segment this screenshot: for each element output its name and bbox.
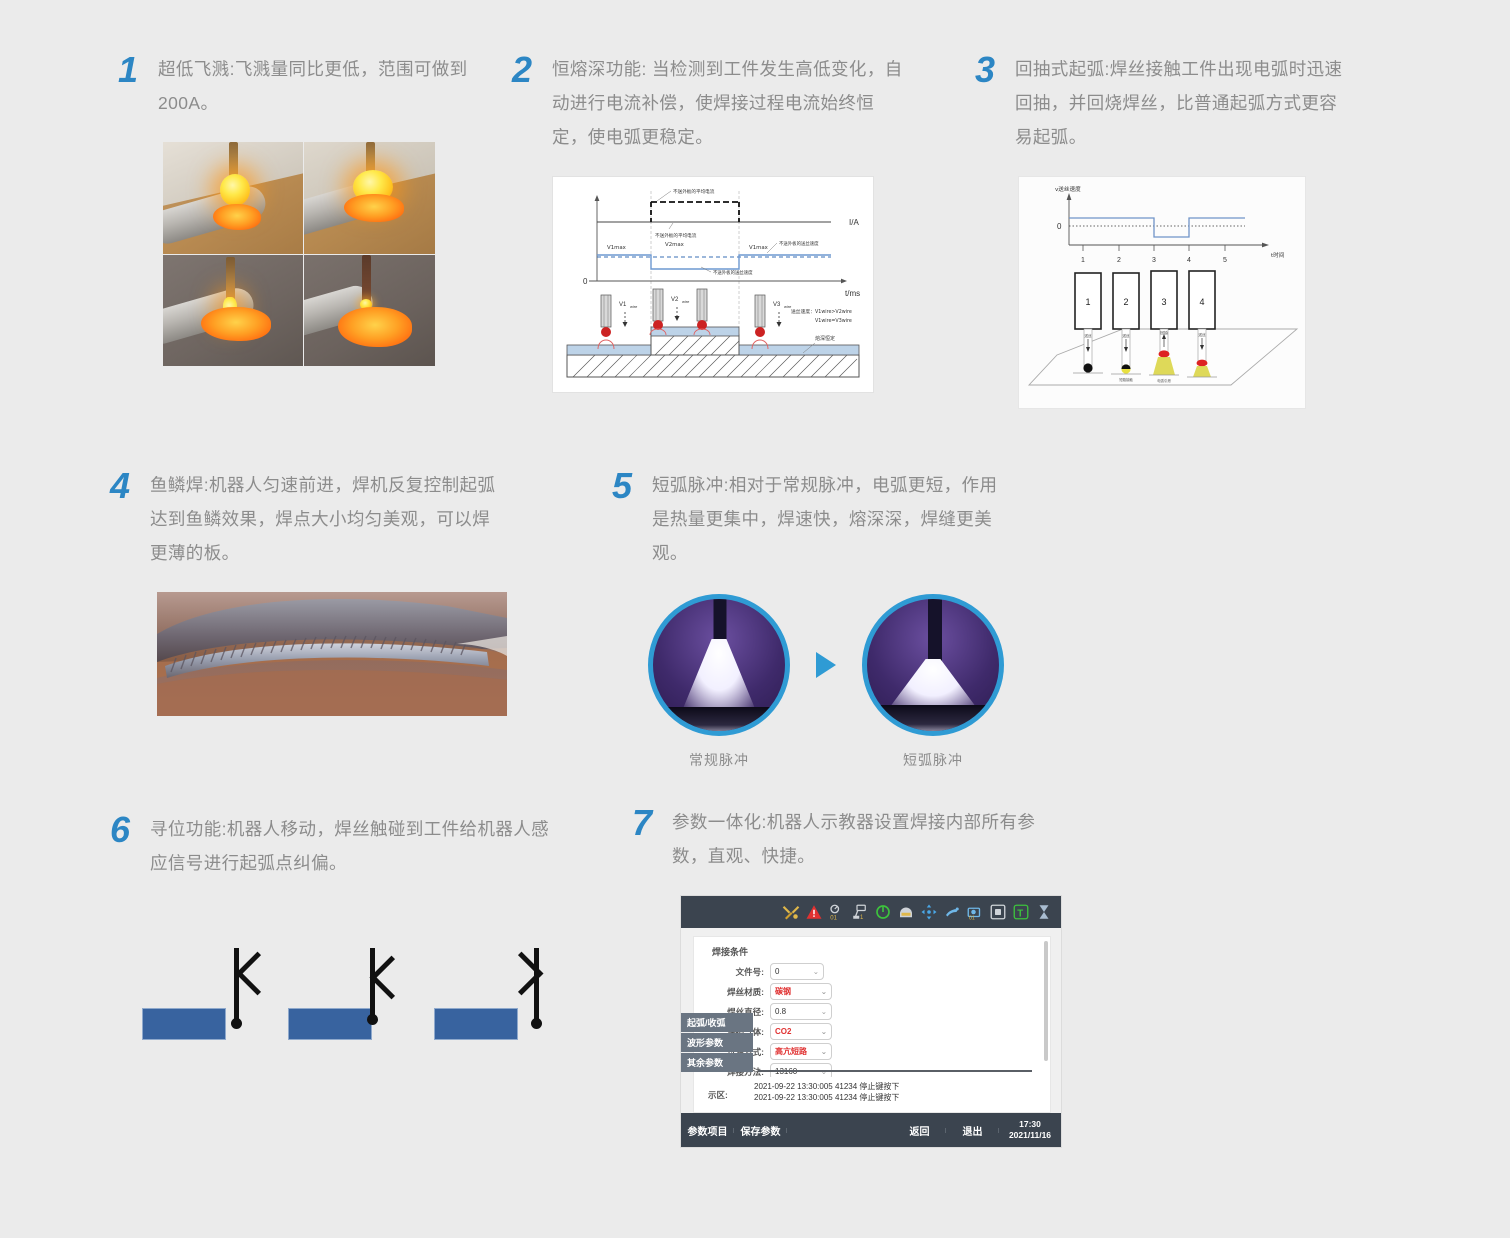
hourglass-icon[interactable]: [1035, 903, 1053, 921]
select-value-file-number: 0: [775, 967, 779, 976]
wire-tip-2: [367, 1014, 378, 1025]
select-value-wire-diameter: 0.8: [775, 1007, 786, 1016]
diagram3-zero: 0: [1057, 222, 1062, 231]
spatter-photo-3: [163, 255, 303, 366]
footer-time: 17:30: [999, 1119, 1061, 1130]
svg-text:01: 01: [830, 916, 837, 922]
svg-text:3: 3: [1152, 257, 1156, 264]
warning-icon[interactable]: [805, 903, 823, 921]
select-value-shield-gas: CO2: [775, 1027, 791, 1036]
select-value-wire-material: 碳钢: [775, 986, 791, 997]
field-row-wire-material[interactable]: 焊丝材质: 碳钢 ⌄: [712, 983, 1050, 1000]
svg-text:4: 4: [1199, 297, 1204, 307]
svg-text:V1max: V1max: [607, 245, 627, 251]
chevron-down-icon-4: ⌄: [821, 1027, 827, 1036]
svg-text:不送外板的平均电流: 不送外板的平均电流: [655, 232, 697, 239]
constant-penetration-diagram: I/A t/ms 0 不送外板的平均电流 不送外板的平均电流 V2max V1m…: [552, 176, 874, 393]
pulse-regular: 常规脉冲: [648, 594, 790, 770]
feature-7-head: 7 参数一体化:机器人示教器设置焊接内部所有参数，直观、快捷。: [632, 805, 1092, 873]
feature-2-description: 恒熔深功能: 当检测到工件发生高低变化，自动进行电流补偿，使焊接过程电流始终恒定…: [552, 52, 904, 154]
feature-5-number: 5: [612, 468, 638, 504]
arrow-right-icon: [816, 652, 836, 678]
spray-icon[interactable]: [943, 903, 961, 921]
log-divider: [758, 1070, 1032, 1072]
helmet-icon[interactable]: [897, 903, 915, 921]
short-arc-pulse-caption: 短弧脉冲: [903, 750, 963, 770]
feature-4-description: 鱼鳞焊:机器人匀速前进，焊机反复控制起弧达到鱼鳞效果，焊点大小均匀美观，可以焊更…: [150, 468, 502, 570]
diagram3-y-label: v送丝速度: [1055, 185, 1081, 193]
feature-4-number: 4: [110, 468, 136, 504]
select-transfer-mode[interactable]: 高亢短路 ⌄: [770, 1043, 832, 1060]
feature-1: 1 超低飞溅:飞溅量同比更低，范围可做到200A。: [118, 52, 538, 366]
move-icon[interactable]: [920, 903, 938, 921]
spatter-photo-4: [304, 255, 435, 366]
pendant-toolbar[interactable]: 01 1 01 T: [681, 896, 1061, 928]
svg-text:V2max: V2max: [665, 242, 685, 248]
svg-text:T: T: [1017, 909, 1023, 920]
seam-finding-diagram: [142, 948, 546, 1040]
svg-text:送丝: 送丝: [1122, 333, 1130, 338]
feature-2: 2 恒熔深功能: 当检测到工件发生高低变化，自动进行电流补偿，使焊接过程电流始终…: [512, 52, 932, 393]
feature-2-number: 2: [512, 52, 538, 88]
log-label: 示区:: [708, 1089, 728, 1101]
svg-text:wire: wire: [784, 304, 792, 309]
field-row-shield-gas[interactable]: 保护气体: CO2 ⌄: [712, 1023, 1050, 1040]
spatter-photo-1: [163, 142, 303, 254]
feature-7-number: 7: [632, 805, 658, 841]
workpiece-block-1: [142, 1008, 226, 1040]
tab-waveform-params[interactable]: 波形参数: [681, 1033, 753, 1052]
regular-pulse-image: [648, 594, 790, 736]
chevron-left-icon-1: [236, 952, 280, 996]
svg-text:送丝: 送丝: [1084, 333, 1092, 338]
feature-6: 6 寻位功能:机器人移动，焊丝触碰到工件给机器人感应信号进行起弧点纠偏。: [110, 812, 580, 1040]
wire-tip-3: [531, 1018, 542, 1029]
pendant-side-tabs[interactable]: 起弧/收弧 波形参数 其余参数: [681, 1013, 753, 1073]
seam-unit-3: [434, 948, 554, 1040]
text-icon[interactable]: T: [1012, 903, 1030, 921]
log-line-1: 2021-09-22 13:30:005 41234 停止键按下: [754, 1081, 1050, 1092]
feature-7: 7 参数一体化:机器人示教器设置焊接内部所有参数，直观、快捷。 01 1 01 …: [632, 805, 1092, 1148]
wire-line-3: [534, 948, 539, 1024]
tab-arc-start-end[interactable]: 起弧/收弧: [681, 1013, 753, 1032]
feature-1-head: 1 超低飞溅:飞溅量同比更低，范围可做到200A。: [118, 52, 538, 120]
tools-icon[interactable]: [782, 903, 800, 921]
feature-6-head: 6 寻位功能:机器人移动，焊丝触碰到工件给机器人感应信号进行起弧点纠偏。: [110, 812, 580, 880]
feature-5: 5 短弧脉冲:相对于常规脉冲，电弧更短，作用是热量更集中，焊速快，熔深深，焊缝更…: [612, 468, 1042, 770]
feature-4: 4 鱼鳞焊:机器人匀速前进，焊机反复控制起弧达到鱼鳞效果，焊点大小均匀美观，可以…: [110, 468, 530, 716]
feature-7-description: 参数一体化:机器人示教器设置焊接内部所有参数，直观、快捷。: [672, 805, 1060, 873]
select-file-number[interactable]: 0 ⌄: [770, 963, 824, 980]
feature-3-description: 回抽式起弧:焊丝接触工件出现电弧时迅速回抽，并回烧焊丝，比普通起弧方式更容易起弧…: [1015, 52, 1353, 154]
retract-arc-diagram: 0 v送丝速度 t时间 12 34 5: [1018, 176, 1306, 409]
short-arc-pulse-image: [862, 594, 1004, 736]
svg-text:2: 2: [1123, 297, 1128, 307]
footer-clock: 17:30 2021/11/16: [999, 1119, 1061, 1141]
feature-6-number: 6: [110, 812, 136, 848]
feature-5-head: 5 短弧脉冲:相对于常规脉冲，电弧更短，作用是热量更集中，焊速快，熔深深，焊缝更…: [612, 468, 1042, 570]
svg-text:电弧引燃: 电弧引燃: [1157, 378, 1171, 383]
workpiece-block-3: [434, 1008, 518, 1040]
svg-text:送丝速度：V1wire>V2wire: 送丝速度：V1wire>V2wire: [791, 308, 852, 315]
svg-text:V1max: V1max: [749, 245, 769, 251]
feature-2-head: 2 恒熔深功能: 当检测到工件发生高低变化，自动进行电流补偿，使焊接过程电流始终…: [512, 52, 932, 154]
svg-text:wire: wire: [630, 304, 638, 309]
diagram2-origin: 0: [583, 277, 588, 286]
field-row-transfer-mode[interactable]: 过渡方式: 高亢短路 ⌄: [712, 1043, 1050, 1060]
svg-text:1: 1: [860, 915, 864, 921]
diagram2-y-label: I/A: [849, 218, 859, 227]
log-line-2: 2021-09-22 13:30:005 41234 停止键按下: [754, 1092, 1050, 1103]
svg-text:4: 4: [1187, 257, 1191, 264]
svg-text:3: 3: [1161, 297, 1166, 307]
fish-scale-weld-svg: [157, 592, 507, 716]
svg-text:1: 1: [1085, 297, 1090, 307]
svg-text:2: 2: [1117, 257, 1121, 264]
retract-arc-svg: 0 v送丝速度 t时间 12 34 5: [1019, 177, 1305, 408]
svg-text:送丝: 送丝: [1198, 332, 1206, 337]
svg-text:V2: V2: [671, 297, 679, 303]
feature-5-description: 短弧脉冲:相对于常规脉冲，电弧更短，作用是热量更集中，焊速快，熔深深，焊缝更美观…: [652, 468, 1012, 570]
feature-6-description: 寻位功能:机器人移动，焊丝触碰到工件给机器人感应信号进行起弧点纠偏。: [150, 812, 550, 880]
pulse-short-arc: 短弧脉冲: [862, 594, 1004, 770]
footer-param-items[interactable]: 参数项目: [681, 1123, 734, 1138]
footer-date: 2021/11/16: [999, 1130, 1061, 1141]
feature-1-photo-grid: [163, 142, 435, 366]
svg-text:不送外板的送丝速度: 不送外板的送丝速度: [779, 240, 819, 247]
chevron-down-icon-2: ⌄: [821, 987, 827, 996]
svg-text:01: 01: [969, 916, 975, 922]
wire-tip-1: [231, 1018, 242, 1029]
feature-3-head: 3 回抽式起弧:焊丝接触工件出现电弧时迅速回抽，并回烧焊丝，比普通起弧方式更容易…: [975, 52, 1375, 154]
svg-text:V3: V3: [773, 302, 781, 308]
gauge-icon[interactable]: 01: [828, 903, 846, 921]
footer-save-params[interactable]: 保存参数: [734, 1123, 787, 1138]
spatter-photo-2: [304, 142, 435, 254]
feature-3-number: 3: [975, 52, 1001, 88]
fish-scale-weld-photo: [157, 592, 507, 716]
robot-icon[interactable]: 1: [851, 903, 869, 921]
pulse-comparison: 常规脉冲 短弧脉冲: [648, 594, 1042, 770]
footer-exit[interactable]: 退出: [946, 1123, 999, 1138]
vertical-scrollbar[interactable]: [1044, 941, 1048, 1061]
diagram3-x-label: t时间: [1271, 251, 1285, 259]
chevron-down-icon-5: ⌄: [821, 1047, 827, 1056]
chevron-down-icon-3: ⌄: [821, 1007, 827, 1016]
chevron-down-icon-1: ⌄: [813, 967, 819, 976]
svg-text:wire: wire: [682, 299, 690, 304]
feature-1-number: 1: [118, 52, 144, 88]
svg-text:熔深恒定: 熔深恒定: [815, 335, 835, 342]
select-shield-gas[interactable]: CO2 ⌄: [770, 1023, 832, 1040]
stop-icon[interactable]: [989, 903, 1007, 921]
svg-text:不送外板的送丝速度: 不送外板的送丝速度: [713, 269, 753, 276]
regular-pulse-caption: 常规脉冲: [689, 750, 749, 770]
camera-icon[interactable]: 01: [966, 903, 984, 921]
svg-text:V1: V1: [619, 302, 627, 308]
wire-line-1: [234, 948, 239, 1024]
field-label-file-number: 文件号:: [712, 966, 764, 978]
pendant-log-area: 示区: 2021-09-22 13:30:005 41234 停止键按下 202…: [693, 1077, 1051, 1113]
poster-root: 1 超低飞溅:飞溅量同比更低，范围可做到200A。: [0, 0, 1510, 1238]
constant-penetration-svg: I/A t/ms 0 不送外板的平均电流 不送外板的平均电流 V2max V1m…: [553, 177, 873, 392]
svg-text:1: 1: [1081, 257, 1085, 264]
tab-other-params[interactable]: 其余参数: [681, 1053, 753, 1072]
field-label-wire-material: 焊丝材质:: [712, 986, 764, 998]
seam-unit-2: [288, 948, 408, 1040]
svg-text:V1wire=V3wire: V1wire=V3wire: [815, 318, 852, 324]
teach-pendant-ui[interactable]: 01 1 01 T 焊接条件 文件号: 0 ⌄: [680, 895, 1062, 1148]
seam-unit-1: [142, 948, 262, 1040]
select-wire-diameter[interactable]: 0.8 ⌄: [770, 1003, 832, 1020]
wire-line-2: [370, 948, 375, 1024]
workpiece-block-2: [288, 1008, 372, 1040]
svg-text:回抽: 回抽: [1160, 330, 1168, 335]
select-value-transfer-mode: 高亢短路: [775, 1046, 807, 1057]
chevron-left-icon-2: [370, 956, 414, 1000]
feature-1-description: 超低飞溅:飞溅量同比更低，范围可做到200A。: [158, 52, 488, 120]
power-icon[interactable]: [874, 903, 892, 921]
field-row-file-number[interactable]: 文件号: 0 ⌄: [712, 963, 1050, 980]
panel-title: 焊接条件: [694, 937, 1050, 960]
diagram2-x-label: t/ms: [845, 289, 860, 298]
pendant-footer[interactable]: 参数项目 保存参数 返回 退出 17:30 2021/11/16: [681, 1113, 1061, 1147]
feature-4-head: 4 鱼鳞焊:机器人匀速前进，焊机反复控制起弧达到鱼鳞效果，焊点大小均匀美观，可以…: [110, 468, 530, 570]
field-row-wire-diameter[interactable]: 焊丝直径: 0.8 ⌄: [712, 1003, 1050, 1020]
svg-text:短路接触: 短路接触: [1119, 377, 1133, 382]
select-wire-material[interactable]: 碳钢 ⌄: [770, 983, 832, 1000]
feature-3: 3 回抽式起弧:焊丝接触工件出现电弧时迅速回抽，并回烧焊丝，比普通起弧方式更容易…: [975, 52, 1375, 409]
footer-back[interactable]: 返回: [893, 1123, 946, 1138]
svg-text:5: 5: [1223, 257, 1227, 264]
svg-text:不送外板的平均电流: 不送外板的平均电流: [673, 188, 715, 195]
